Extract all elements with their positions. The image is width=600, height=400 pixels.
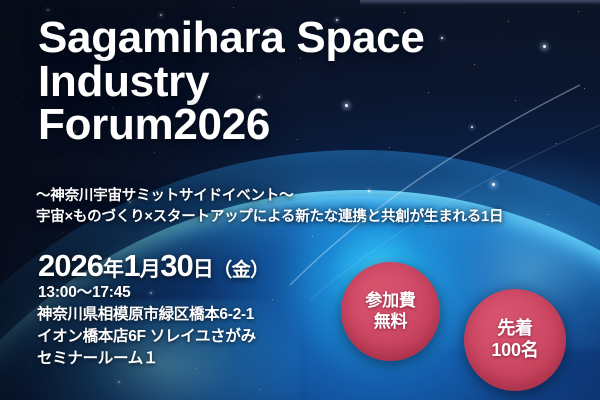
- date-year-unit: 年: [103, 258, 124, 281]
- event-date: 2026年1月30日（金）: [38, 250, 269, 281]
- badge-capacity-value: 100名: [491, 340, 538, 362]
- date-month-number: 1: [123, 248, 139, 283]
- badge-participation-fee: 参加費 無料: [341, 262, 440, 361]
- badge-capacity: 先着 100名: [464, 289, 566, 391]
- poster-subtitle: 〜神奈川宇宙サミットサイドイベント〜 宇宙×ものづくり×スタートアップによる新た…: [36, 186, 596, 227]
- subtitle-line-1: 〜神奈川宇宙サミットサイドイベント〜: [36, 186, 596, 207]
- date-day-unit: 日: [193, 258, 214, 281]
- badge-fee-value: 無料: [374, 312, 408, 333]
- event-venue: 神奈川県相模原市緑区橋本6-2-1 イオン橋本店6F ソレイユさがみ セミナール…: [37, 304, 256, 370]
- subtitle-line-2: 宇宙×ものづくり×スタートアップによる新たな連携と共創が生まれる1日: [36, 207, 596, 228]
- poster-content: Sagamihara Space Industry Forum2026 〜神奈川…: [0, 0, 600, 400]
- date-year-number: 2026: [38, 248, 103, 283]
- date-day-number: 30: [160, 248, 192, 283]
- poster-title: Sagamihara Space Industry Forum2026: [38, 16, 578, 147]
- date-month-unit: 月: [140, 258, 161, 281]
- event-poster: Sagamihara Space Industry Forum2026 〜神奈川…: [0, 0, 600, 400]
- venue-line-3: セミナールーム１: [37, 348, 256, 370]
- date-weekday: （金）: [213, 260, 269, 281]
- venue-line-1: 神奈川県相模原市緑区橋本6-2-1: [37, 304, 256, 326]
- badge-capacity-label: 先着: [497, 318, 533, 340]
- event-time: 13:00〜17:45: [38, 285, 131, 301]
- badge-fee-label: 参加費: [365, 291, 415, 312]
- venue-line-2: イオン橋本店6F ソレイユさがみ: [37, 326, 256, 348]
